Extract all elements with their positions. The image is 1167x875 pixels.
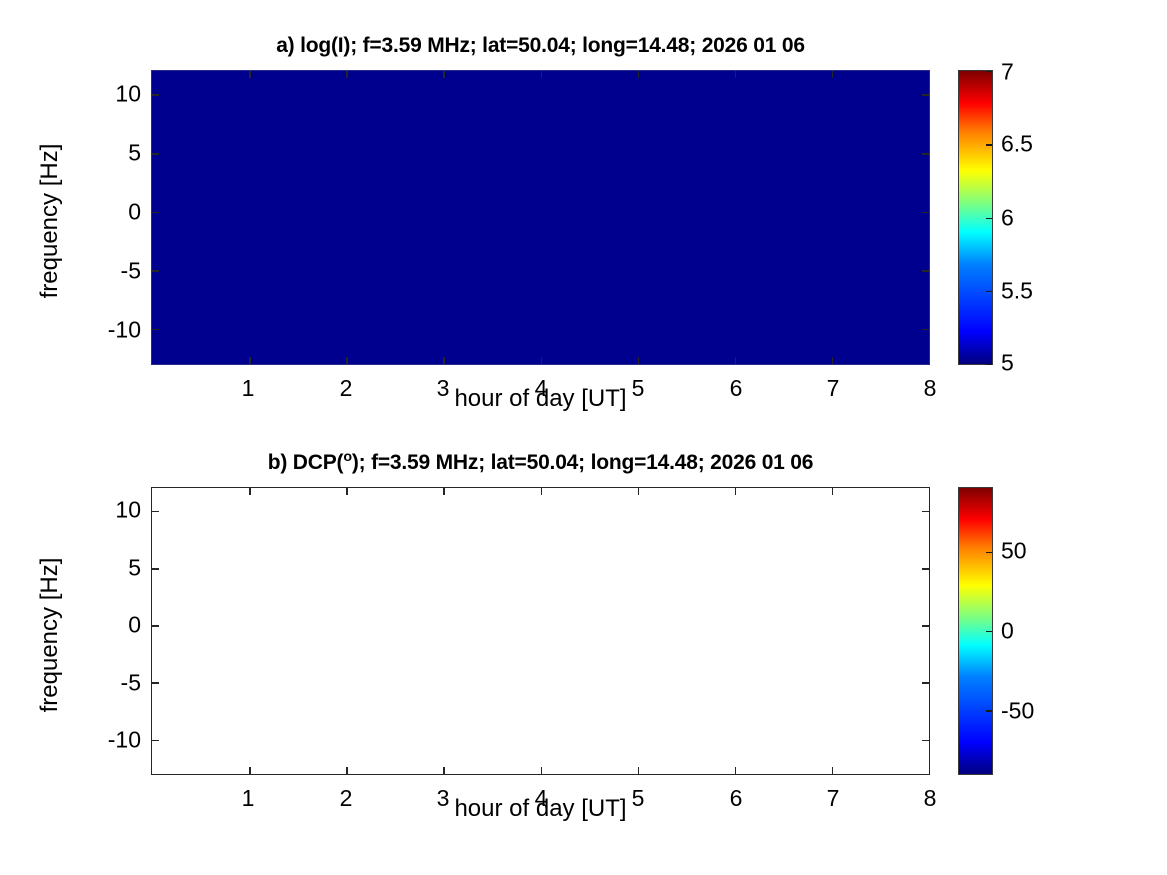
panel-b-ytick-right-neg5 bbox=[922, 682, 929, 684]
panel-b-xtick-top-4 bbox=[541, 488, 543, 495]
panel-b-xlabel: hour of day [UT] bbox=[151, 795, 930, 823]
panel-a-xlabel: hour of day [UT] bbox=[151, 385, 930, 413]
panel-a-colorbar-label-5: 5 bbox=[1001, 350, 1014, 377]
panel-a-ytick-right-0 bbox=[922, 212, 929, 214]
panel-b-yticklabel-5: 5 bbox=[95, 554, 141, 581]
panel-b-yticklabel-10: 10 bbox=[95, 497, 141, 524]
panel-a-xtick-7 bbox=[832, 357, 834, 364]
panel-b-ytick-right-5 bbox=[922, 568, 929, 570]
panel-b-dcp: b) DCP(o); f=3.59 MHz; lat=50.04; long=1… bbox=[0, 437, 1167, 875]
panel-b-title-degree-superscript: o bbox=[343, 449, 352, 465]
panel-b-title-suffix: ); f=3.59 MHz; lat=50.04; long=14.48; 20… bbox=[352, 451, 813, 474]
panel-b-ytick-0 bbox=[152, 625, 159, 627]
panel-b-colorbar-tick-0 bbox=[986, 631, 992, 632]
panel-a-xtick-top-7 bbox=[832, 71, 834, 78]
panel-a-axes bbox=[151, 70, 930, 365]
panel-a-xtick-top-1 bbox=[249, 71, 251, 78]
panel-b-xtick-3 bbox=[443, 767, 445, 774]
panel-a-heatmap-surface bbox=[152, 71, 929, 364]
panel-b-yticklabel-0: 0 bbox=[95, 612, 141, 639]
panel-a-xtick-2 bbox=[346, 357, 348, 364]
panel-a-colorbar-label-5p5: 5.5 bbox=[1001, 278, 1033, 305]
panel-b-title: b) DCP(o); f=3.59 MHz; lat=50.04; long=1… bbox=[151, 451, 930, 475]
panel-b-xtick-2 bbox=[346, 767, 348, 774]
panel-b-axes bbox=[151, 487, 930, 775]
panel-a-ytick-right-neg5 bbox=[922, 270, 929, 272]
panel-a-yticklabel-neg5: -5 bbox=[95, 257, 141, 284]
panel-b-colorbar[interactable] bbox=[958, 487, 993, 775]
panel-a-title: a) log(I); f=3.59 MHz; lat=50.04; long=1… bbox=[151, 34, 930, 58]
panel-b-xtick-top-7 bbox=[832, 488, 834, 495]
panel-a-yticklabel-5: 5 bbox=[95, 139, 141, 166]
panel-a-ytick-neg10 bbox=[152, 329, 159, 331]
panel-b-ytick-right-0 bbox=[922, 625, 929, 627]
panel-a-xtick-5 bbox=[638, 357, 640, 364]
panel-a-ytick-right-neg10 bbox=[922, 329, 929, 331]
panel-a-ytick-10 bbox=[152, 94, 159, 96]
panel-b-ytick-10 bbox=[152, 511, 159, 513]
panel-b-xtick-top-2 bbox=[346, 488, 348, 495]
panel-b-ytick-right-10 bbox=[922, 511, 929, 513]
panel-a-xtick-4 bbox=[541, 357, 543, 364]
panel-a-xtick-top-2 bbox=[346, 71, 348, 78]
panel-b-xtick-4 bbox=[541, 767, 543, 774]
panel-a-colorbar-tick-6 bbox=[986, 218, 992, 219]
panel-a-log-intensity: a) log(I); f=3.59 MHz; lat=50.04; long=1… bbox=[0, 0, 1167, 437]
panel-b-title-prefix: b) DCP( bbox=[268, 451, 344, 474]
panel-a-xtick-top-4 bbox=[541, 71, 543, 78]
panel-b-xtick-7 bbox=[832, 767, 834, 774]
panel-a-ytick-0 bbox=[152, 212, 159, 214]
panel-b-colorbar-label-0: 0 bbox=[1001, 618, 1014, 645]
panel-a-yticklabel-0: 0 bbox=[95, 198, 141, 225]
panel-b-colorbar-tick-neg50 bbox=[986, 710, 992, 711]
panel-b-xtick-top-5 bbox=[638, 488, 640, 495]
panel-a-colorbar-label-7: 7 bbox=[1001, 59, 1014, 86]
panel-a-colorbar-tick-5 bbox=[986, 364, 992, 365]
panel-a-colorbar-tick-7 bbox=[986, 71, 992, 72]
panel-b-ytick-5 bbox=[152, 568, 159, 570]
panel-a-yticklabel-neg10: -10 bbox=[95, 316, 141, 343]
panel-a-yticklabel-10: 10 bbox=[95, 80, 141, 107]
panel-a-xtick-top-6 bbox=[735, 71, 737, 78]
panel-a-xtick-3 bbox=[443, 357, 445, 364]
panel-b-colorbar-label-50: 50 bbox=[1001, 538, 1027, 565]
panel-b-ylabel: frequency [Hz] bbox=[36, 525, 64, 745]
panel-b-yticklabel-neg10: -10 bbox=[95, 727, 141, 754]
panel-b-xtick-1 bbox=[249, 767, 251, 774]
panel-a-xtick-top-5 bbox=[638, 71, 640, 78]
panel-b-xtick-top-3 bbox=[443, 488, 445, 495]
panel-a-xtick-1 bbox=[249, 357, 251, 364]
figure-canvas: a) log(I); f=3.59 MHz; lat=50.04; long=1… bbox=[0, 0, 1167, 875]
panel-a-ytick-right-5 bbox=[922, 153, 929, 155]
panel-a-ylabel: frequency [Hz] bbox=[36, 111, 64, 331]
panel-a-ytick-5 bbox=[152, 153, 159, 155]
panel-a-colorbar-tick-5p5 bbox=[986, 291, 992, 292]
panel-b-colorbar-tick-50 bbox=[986, 552, 992, 553]
panel-a-colorbar[interactable] bbox=[958, 70, 993, 365]
panel-b-ytick-right-neg10 bbox=[922, 740, 929, 742]
panel-b-xtick-top-6 bbox=[735, 488, 737, 495]
panel-b-yticklabel-neg5: -5 bbox=[95, 669, 141, 696]
panel-b-xtick-top-1 bbox=[249, 488, 251, 495]
panel-a-colorbar-label-6p5: 6.5 bbox=[1001, 130, 1033, 157]
panel-a-xtick-top-3 bbox=[443, 71, 445, 78]
panel-a-colorbar-label-6: 6 bbox=[1001, 204, 1014, 231]
panel-b-colorbar-label-neg50: -50 bbox=[1001, 698, 1034, 725]
panel-a-xtick-6 bbox=[735, 357, 737, 364]
panel-a-ytick-neg5 bbox=[152, 270, 159, 272]
panel-a-colorbar-tick-6p5 bbox=[986, 144, 992, 145]
panel-b-ytick-neg5 bbox=[152, 682, 159, 684]
panel-b-ytick-neg10 bbox=[152, 740, 159, 742]
panel-b-xtick-5 bbox=[638, 767, 640, 774]
panel-b-xtick-6 bbox=[735, 767, 737, 774]
panel-a-ytick-right-10 bbox=[922, 94, 929, 96]
